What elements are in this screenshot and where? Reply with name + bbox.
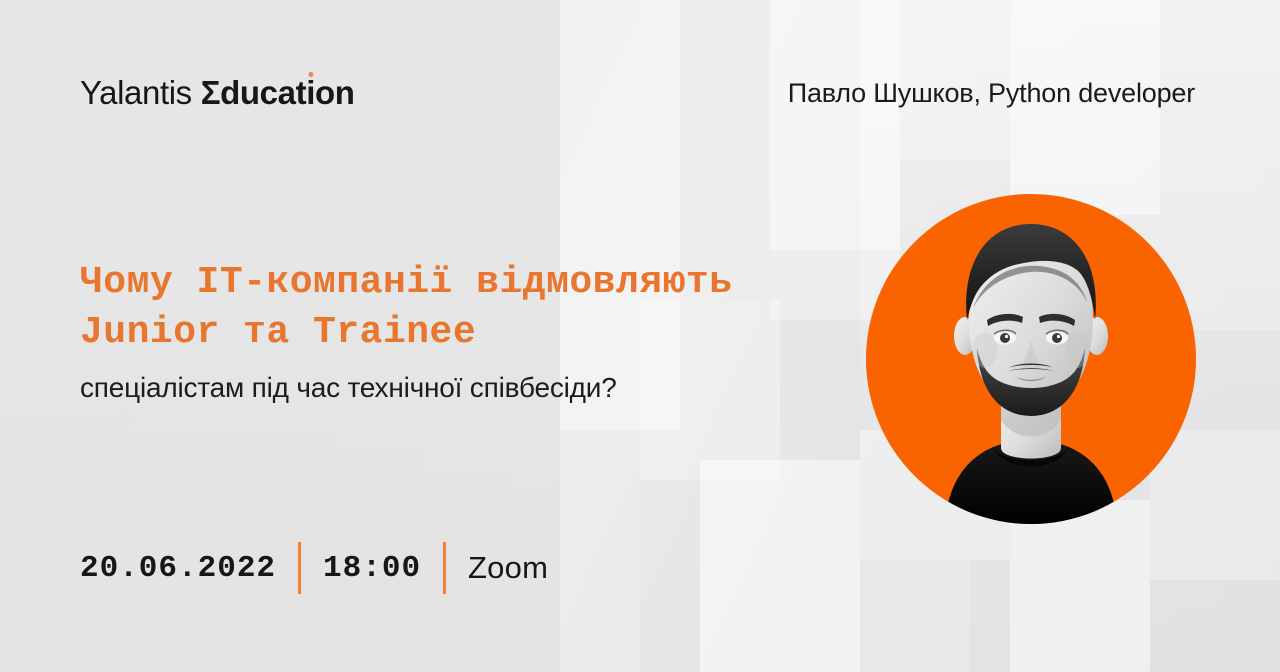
background-tile (560, 0, 680, 430)
brand-logo-education-dotted-i: i (306, 74, 315, 111)
background-tile (680, 0, 770, 300)
webinar-banner: YalantisΣducation Павло Шушков, Python d… (0, 0, 1280, 672)
event-date: 20.06.2022 (80, 551, 276, 586)
meta-divider (443, 542, 446, 594)
background-tile (700, 460, 860, 672)
headline-line-2: Junior та Trainee (80, 308, 840, 358)
brand-logo-education-suffix: on (315, 74, 355, 111)
speaker-portrait (866, 194, 1196, 524)
headline-subtitle: спеціалістам під час технічної співбесід… (80, 372, 617, 404)
brand-logo-education: Σducation (201, 74, 355, 111)
meta-divider (298, 542, 301, 594)
event-platform: Zoom (468, 550, 548, 586)
speaker-name-role: Павло Шушков, Python developer (788, 78, 1195, 109)
portrait-orange-circle (866, 194, 1196, 524)
headline-line-1: Чому IT-компанії відмовляють (80, 258, 840, 308)
event-time: 18:00 (323, 551, 421, 586)
headline: Чому IT-компанії відмовляють Junior та T… (80, 258, 840, 358)
background-tile (560, 430, 640, 672)
event-meta: 20.06.2022 18:00 Zoom (80, 542, 548, 594)
brand-logo: YalantisΣducation (80, 74, 354, 112)
brand-logo-yalantis: Yalantis (80, 74, 192, 111)
portrait-photo (927, 216, 1135, 524)
portrait-illustration (927, 216, 1135, 524)
brand-logo-education-prefix: Σducat (201, 74, 306, 111)
